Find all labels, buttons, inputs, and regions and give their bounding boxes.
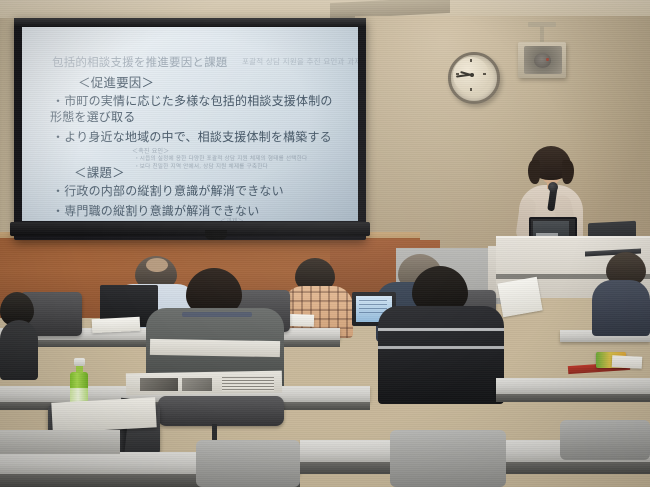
clock-tick (483, 73, 486, 75)
desk-row-2-right-edge (496, 394, 650, 402)
slide-bullet: 形態を選び取る (50, 108, 135, 125)
chair-front-far-right (560, 420, 650, 460)
clock-tick (470, 59, 472, 62)
audience-torso-striped-polo (378, 306, 504, 404)
bottle-cap (74, 358, 85, 366)
slide-section-2-heading: ＜課題＞ (74, 162, 125, 181)
screen-top-bar (14, 18, 366, 27)
screen-pull-handle (205, 230, 227, 240)
slide-bullet: ・市町の実情に応じた多様な包括的相談支援体制の (52, 92, 333, 109)
desk-row-2-right (496, 378, 650, 394)
chair-front-left (196, 440, 300, 487)
clock-center-pin (470, 73, 474, 77)
audience-lanyard (182, 312, 252, 317)
audience-torso-right-edge (592, 280, 650, 336)
speaker-indicator-led (546, 58, 549, 61)
desk-paper-right (612, 355, 643, 369)
slide-ko-bullet: ・시읍의 실정에 응한 다양한 포괄적 상담 지원 체제의 형태를 선택한다 (134, 154, 307, 162)
chair-seat (158, 396, 284, 426)
clock-tick (470, 88, 472, 91)
slide-bullet: ・行政の内部の縦割り意識が解消できない (52, 182, 284, 199)
audience-bald-spot (146, 258, 168, 272)
desk-row-1-left-surface (0, 430, 120, 454)
papers-on-bag (51, 397, 156, 432)
newspaper-upper (150, 339, 280, 357)
newspaper-text-columns (222, 377, 274, 391)
slide-ko-heading: ＜과제＞ (220, 216, 244, 221)
newspaper-photo (140, 378, 178, 391)
slide-section-1-heading: ＜促進要因＞ (78, 72, 154, 91)
presenter-hair-left (528, 160, 540, 184)
newspaper-photo (182, 378, 212, 391)
microphone-head (548, 182, 558, 192)
chair-front-right (390, 430, 506, 487)
screen-bottom-bar (10, 222, 370, 236)
clock-tick (456, 73, 459, 75)
slide-title-japanese: 包括的相談支援を推進要因と課題 (52, 54, 228, 70)
slide-ko-bullet: ・보다 친밀한 지역 안에서, 상담 지원 체제를 구축한다 (134, 162, 268, 170)
presentation-slide: 包括的相談支援を推進要因と課題 포괄적 상담 지원을 추진 요인과 과제 ＜促進… (44, 50, 358, 221)
projection-screen-surface: 包括的相談支援を推進要因と課題 포괄적 상담 지원을 추진 요인과 과제 ＜促進… (22, 25, 358, 221)
reading-paper-sheet (497, 277, 542, 317)
handout-paper (92, 317, 141, 333)
lecture-hall-photo: 包括的相談支援を推進要因と課題 포괄적 상담 지원을 추진 요인과 과제 ＜促進… (0, 0, 650, 487)
slide-bullet: ・より身近な地域の中で、相談支援体制を構築する (52, 128, 332, 145)
slide-title-korean: 포괄적 상담 지원을 추진 요인과 과제 (242, 56, 358, 67)
audience-torso-far-left (0, 320, 38, 380)
